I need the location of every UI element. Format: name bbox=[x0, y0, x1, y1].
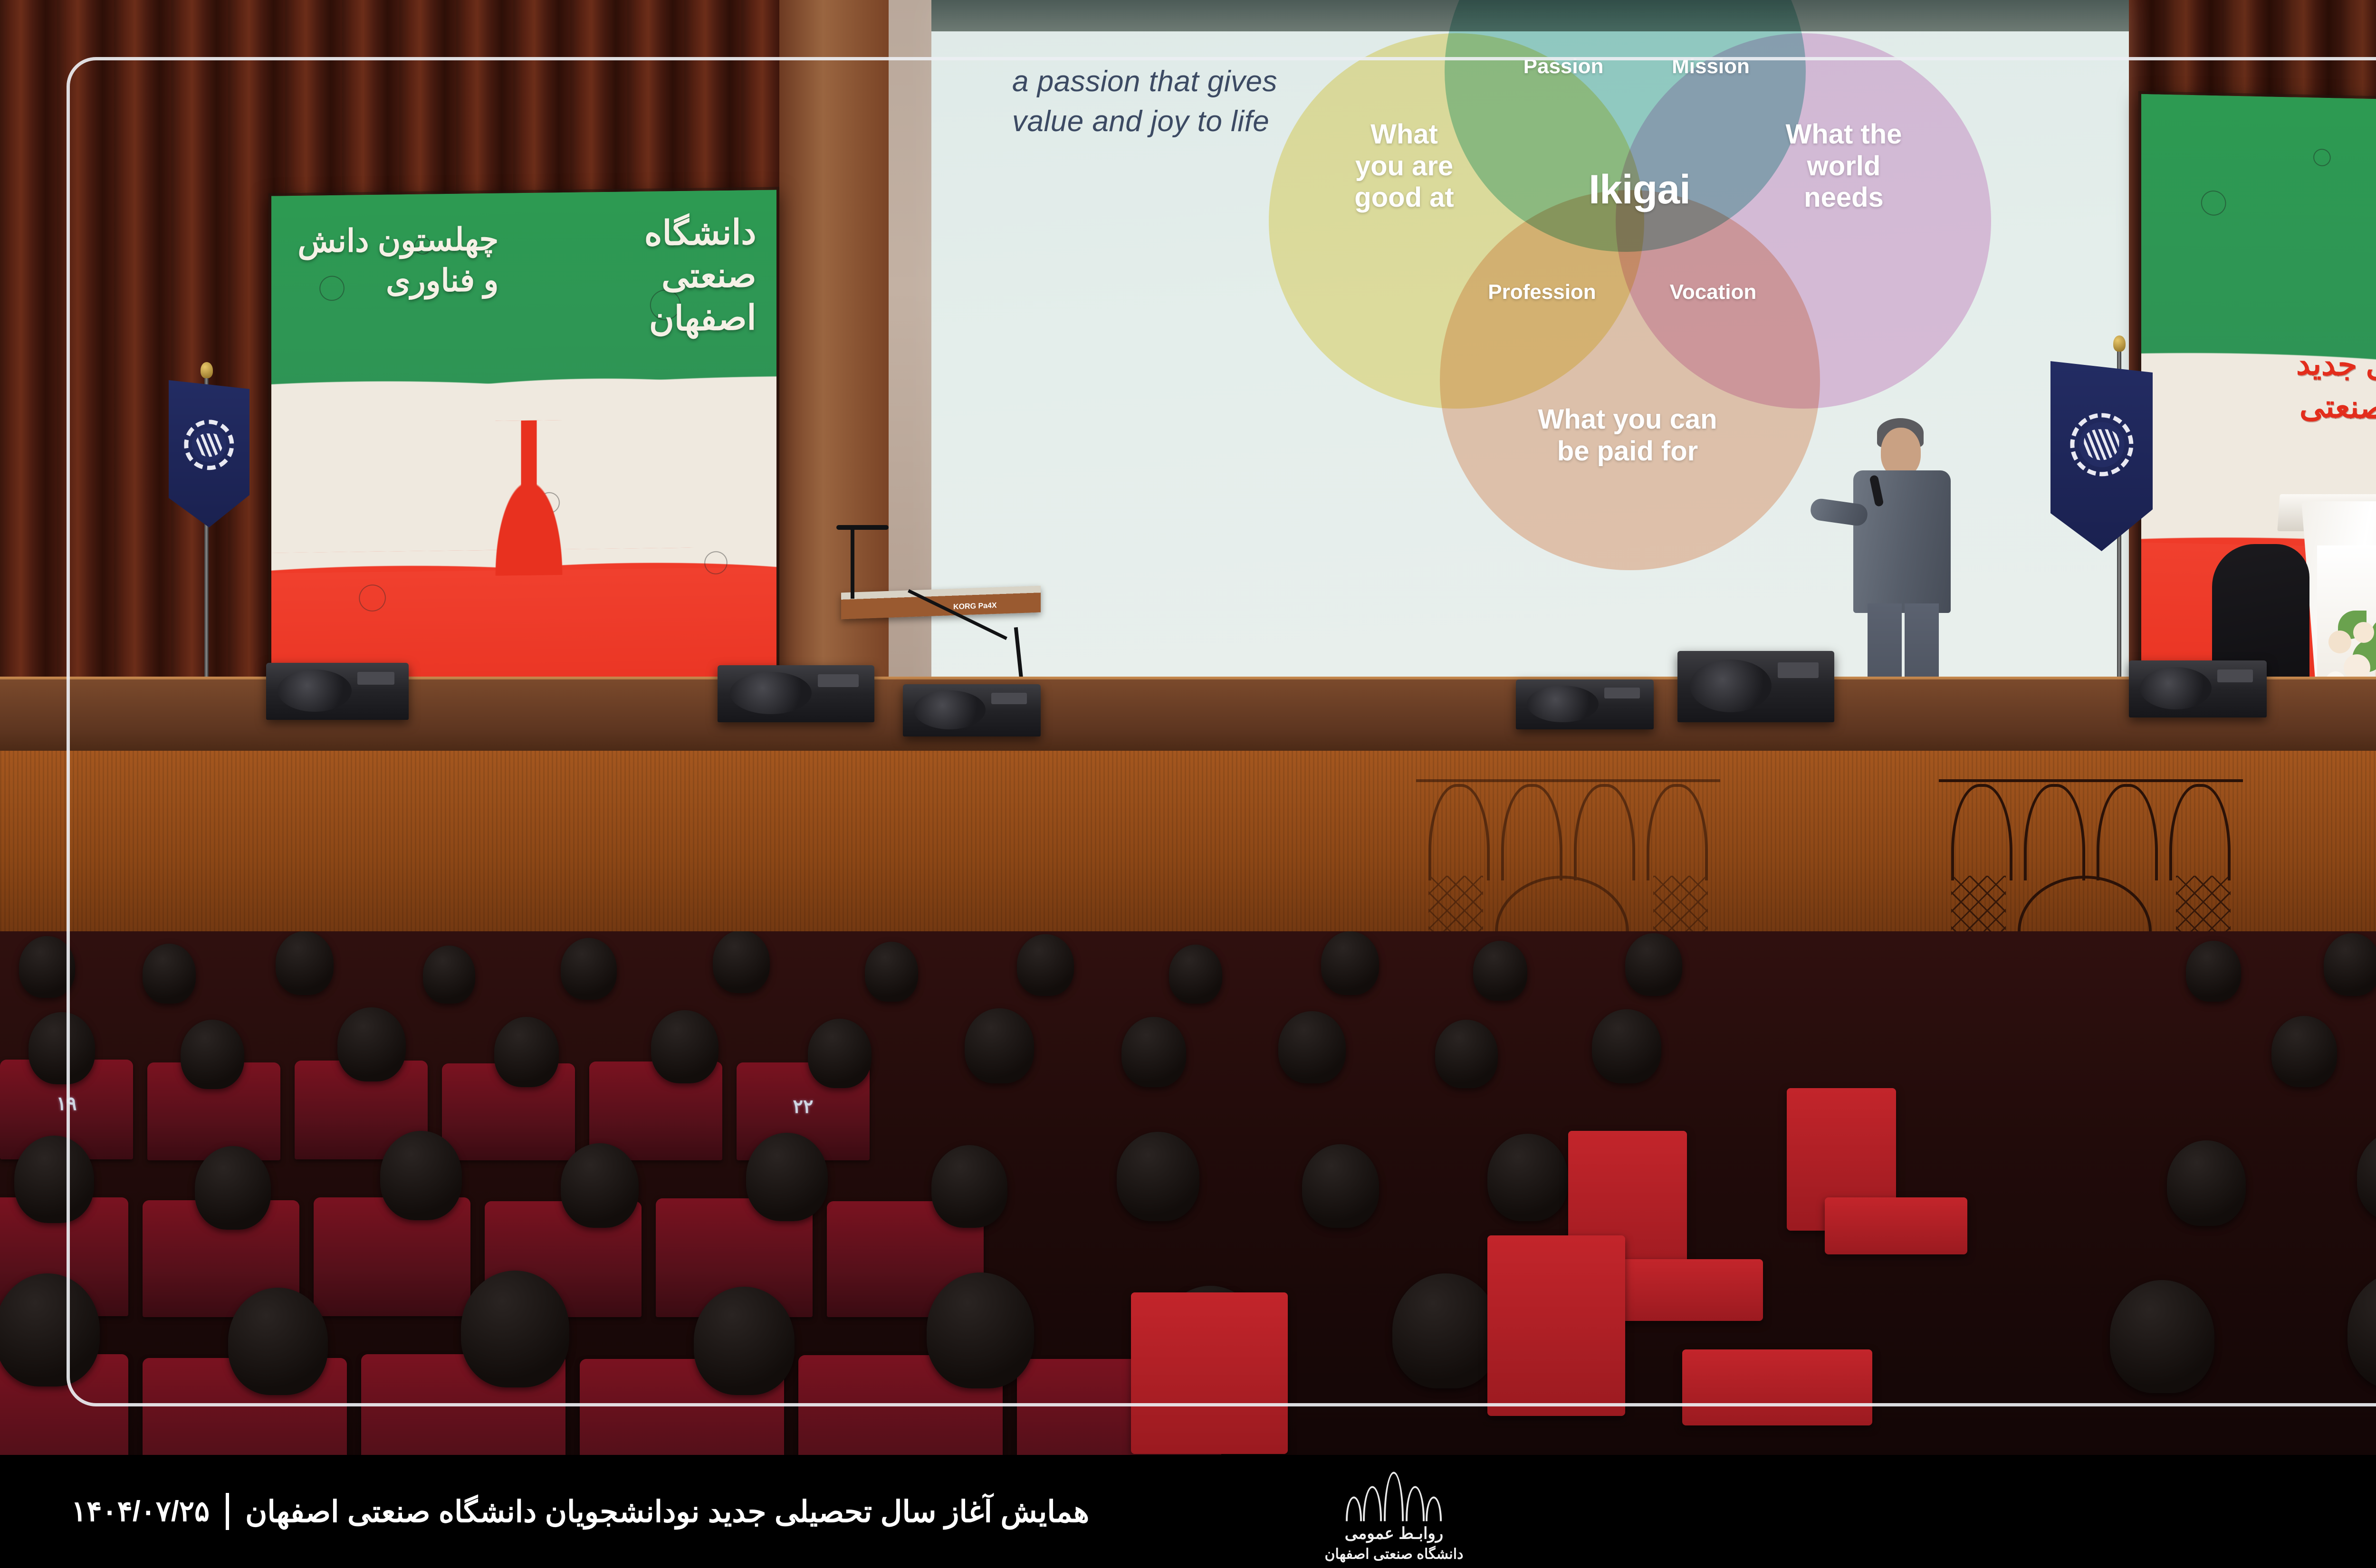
audience-head bbox=[865, 942, 918, 1002]
audience-head bbox=[1435, 1020, 1498, 1088]
audience-head bbox=[2271, 1016, 2337, 1087]
audience-head bbox=[1117, 1132, 1199, 1221]
audience-head bbox=[1302, 1144, 1379, 1228]
audience-head bbox=[1592, 1009, 1661, 1083]
audience-head bbox=[2357, 1131, 2376, 1221]
audience-head bbox=[19, 936, 75, 998]
audience-head bbox=[195, 1146, 271, 1230]
public-relations-logo: روابـط عمومی دانشگاه صنعتی اصفهان bbox=[1325, 1461, 1464, 1563]
event-photo: a passion that gives value and joy to li… bbox=[0, 0, 2376, 1455]
banner-left-title: دانشگاه صنعتی اصفهان bbox=[554, 211, 756, 342]
venn-circle-paid-for bbox=[1440, 190, 1820, 570]
audience-head bbox=[494, 1017, 559, 1087]
footer-divider bbox=[226, 1493, 229, 1530]
audience-head bbox=[380, 1131, 462, 1220]
audience-head bbox=[1017, 934, 1074, 996]
audience-head bbox=[2110, 1280, 2214, 1393]
audience-head bbox=[181, 1020, 244, 1089]
audience-head bbox=[1169, 945, 1222, 1004]
audience-head bbox=[927, 1272, 1034, 1388]
screenshot-root: a passion that gives value and joy to li… bbox=[0, 0, 2376, 1568]
audience-head bbox=[651, 1010, 719, 1083]
audience-head bbox=[808, 1019, 872, 1088]
audience-head bbox=[0, 1273, 100, 1386]
audience-head bbox=[561, 938, 617, 1000]
theater-seat[interactable] bbox=[314, 1197, 470, 1316]
persian-arch-panel-2 bbox=[1416, 779, 1720, 946]
audience-head bbox=[14, 1136, 94, 1223]
stage-monitor-5 bbox=[1677, 651, 1834, 722]
audience-head bbox=[2186, 941, 2241, 1002]
audience-head bbox=[713, 931, 770, 993]
mic-stand-1 bbox=[851, 527, 854, 599]
plastic-chair[interactable] bbox=[1487, 1235, 1625, 1416]
audience-head bbox=[746, 1133, 828, 1221]
audience-head bbox=[143, 944, 196, 1004]
audience-area: ۱۹ ۲۲ bbox=[0, 931, 2376, 1455]
flag-pole-knob-left bbox=[201, 362, 213, 378]
audience-head bbox=[228, 1288, 328, 1395]
speaker-suit-jacket bbox=[1853, 470, 1951, 613]
audience-head bbox=[1473, 941, 1527, 1001]
iut-gear-logo-right bbox=[2070, 413, 2133, 476]
audience-head bbox=[1487, 1134, 1568, 1221]
banner-right-headline: همایش آغاز سال تحصیلی جدید نـو دانشـجویا… bbox=[2286, 342, 2376, 478]
venn-label-world-needs: What the world needs bbox=[1749, 119, 1939, 214]
plastic-chair-seat[interactable] bbox=[1682, 1349, 1872, 1425]
stage-monitor-1 bbox=[266, 663, 409, 720]
audience-head bbox=[965, 1008, 1034, 1083]
iran-emblem bbox=[473, 420, 584, 576]
audience-head bbox=[2347, 1272, 2376, 1389]
audience-head bbox=[461, 1271, 569, 1387]
stage-monitor-4 bbox=[1516, 679, 1654, 729]
iut-gear-logo-left bbox=[184, 420, 234, 470]
iut-building-icon bbox=[1344, 1461, 1444, 1521]
plastic-chair[interactable] bbox=[1131, 1292, 1288, 1454]
footer-event-title: همایش آغاز سال تحصیلی جدید نودانشجویان د… bbox=[245, 1494, 1089, 1529]
plastic-chair-seat[interactable] bbox=[1825, 1197, 1967, 1254]
footer-left-group: همایش آغاز سال تحصیلی جدید نودانشجویان د… bbox=[71, 1493, 1089, 1530]
venn-label-passion: Passion bbox=[1483, 55, 1644, 79]
flag-pole-knob-right bbox=[2113, 335, 2126, 352]
footer-bar: همایش آغاز سال تحصیلی جدید نودانشجویان د… bbox=[0, 1455, 2376, 1568]
banner-left: دانشگاه صنعتی اصفهان چهلستون دانش و فناو… bbox=[268, 187, 779, 716]
footer-date: ۱۴۰۴/۰۷/۲۵ bbox=[71, 1495, 210, 1528]
mic-boom-1 bbox=[836, 525, 889, 530]
seat-number: ۲۲ bbox=[793, 1096, 814, 1118]
audience-head bbox=[337, 1007, 406, 1081]
pr-logo-line1: روابـط عمومی bbox=[1345, 1524, 1444, 1543]
audience-head bbox=[1121, 1017, 1186, 1087]
banner-left-subtitle: چهلستون دانش و فناوری bbox=[297, 219, 498, 303]
audience-head bbox=[276, 931, 334, 995]
audience-head bbox=[2167, 1140, 2246, 1226]
plastic-chair-seat[interactable] bbox=[1606, 1259, 1763, 1321]
persian-arch-panel-1 bbox=[1939, 779, 2243, 946]
audience-head bbox=[1278, 1011, 1346, 1083]
pr-logo-line2: دانشگاه صنعتی اصفهان bbox=[1325, 1546, 1464, 1563]
venn-label-profession: Profession bbox=[1459, 280, 1625, 305]
venn-label-good-at: What you are good at bbox=[1316, 119, 1492, 214]
stage-monitor-3 bbox=[903, 684, 1041, 736]
korg-brand-label: KORG Pa4X bbox=[953, 602, 997, 612]
venn-label-vocation: Vocation bbox=[1635, 280, 1792, 305]
speaker-head bbox=[1881, 428, 1921, 477]
venn-label-ikigai: Ikigai bbox=[1540, 166, 1739, 213]
seat-number: ۱۹ bbox=[57, 1093, 77, 1115]
audience-head bbox=[423, 946, 475, 1004]
stage-monitor-2 bbox=[718, 665, 874, 722]
audience-head bbox=[1625, 933, 1682, 996]
audience-head bbox=[2324, 933, 2376, 996]
audience-head bbox=[1392, 1273, 1499, 1388]
venn-label-paid-for: What you can be paid for bbox=[1514, 404, 1742, 467]
venn-label-mission: Mission bbox=[1630, 55, 1792, 79]
audience-head bbox=[931, 1145, 1007, 1228]
audience-head bbox=[1321, 931, 1379, 995]
audience-head bbox=[29, 1012, 95, 1084]
audience-head bbox=[561, 1143, 639, 1228]
audience-head bbox=[694, 1287, 795, 1395]
stage-monitor-6 bbox=[2129, 660, 2267, 717]
